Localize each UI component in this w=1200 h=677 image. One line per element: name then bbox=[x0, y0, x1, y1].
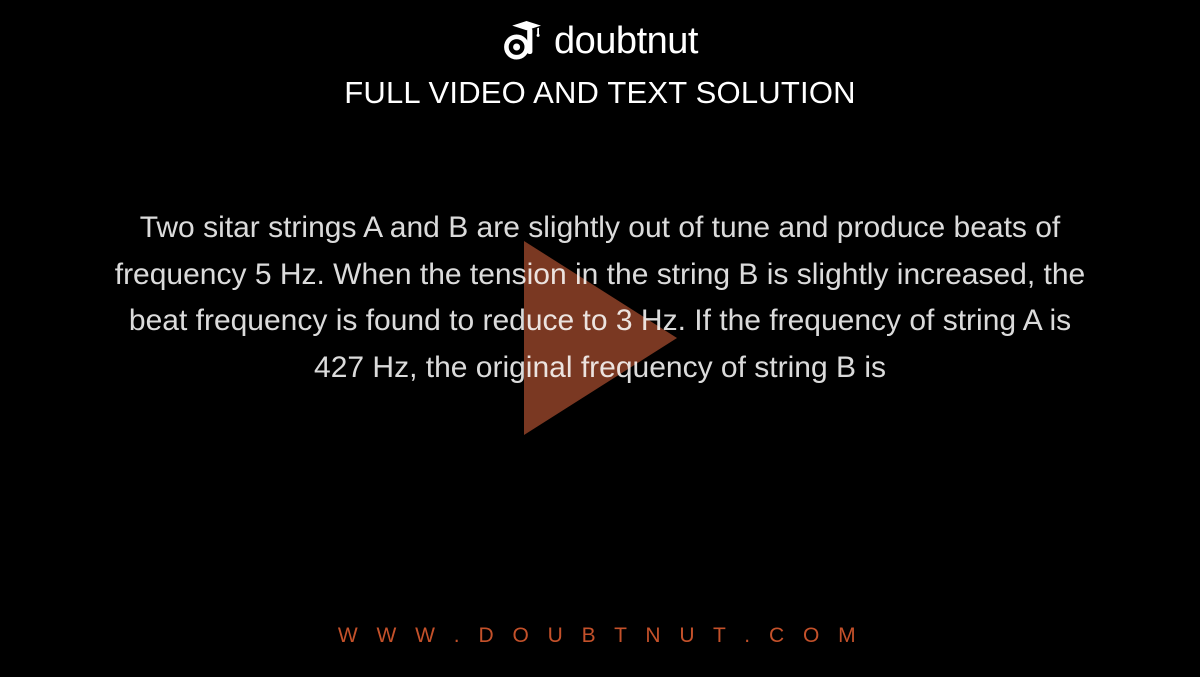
question-text: Two sitar strings A and B are slightly o… bbox=[100, 205, 1100, 391]
brand-wordmark: doubtnut bbox=[554, 22, 698, 60]
brand-logo[interactable]: doubtnut bbox=[0, 16, 1200, 64]
doubtnut-graduation-cap-logo-icon bbox=[502, 18, 548, 62]
video-solution-page: doubtnut FULL VIDEO AND TEXT SOLUTION Tw… bbox=[0, 0, 1200, 677]
page-title: FULL VIDEO AND TEXT SOLUTION bbox=[0, 74, 1200, 112]
footer-website-url[interactable]: W W W . D O U B T N U T . C O M bbox=[0, 622, 1200, 650]
